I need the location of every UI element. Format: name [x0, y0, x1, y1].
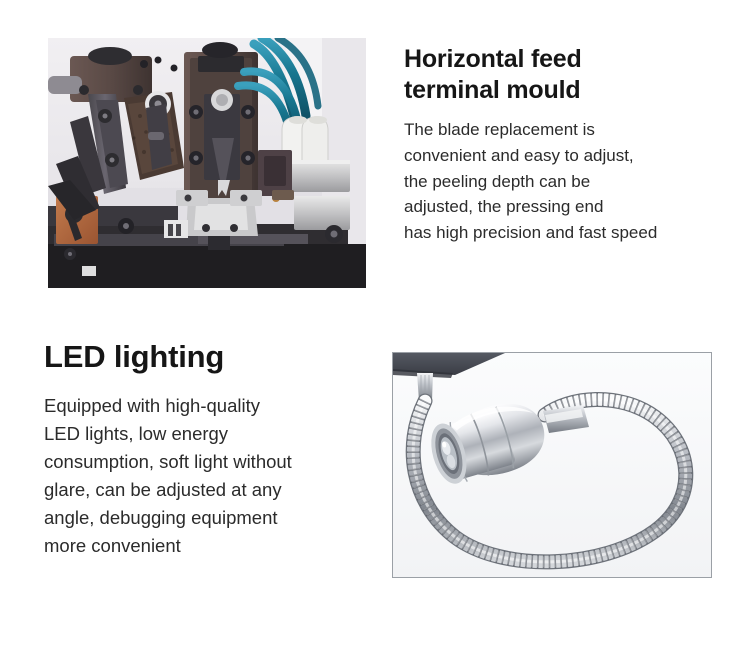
led-product-image	[392, 352, 712, 578]
led-body: Equipped with high-quality LED lights, l…	[44, 392, 384, 561]
led-heading: LED lighting	[44, 338, 384, 376]
mould-body-line-5: has high precision and fast speed	[404, 220, 744, 246]
mould-heading-line-1: Horizontal feed	[404, 44, 744, 75]
led-body-line-2: LED lights, low energy	[44, 420, 384, 448]
led-text-column: LED lighting Equipped with high-quality …	[44, 338, 384, 560]
mould-body: The blade replacement is convenient and …	[404, 117, 744, 246]
mould-product-image	[48, 38, 366, 288]
led-body-line-5: angle, debugging equipment	[44, 504, 384, 532]
led-body-line-3: consumption, soft light without	[44, 448, 384, 476]
led-body-line-6: more convenient	[44, 532, 384, 560]
mould-body-line-1: The blade replacement is	[404, 117, 744, 143]
led-body-line-1: Equipped with high-quality	[44, 392, 384, 420]
mould-body-line-2: convenient and easy to adjust,	[404, 143, 744, 169]
mould-body-line-4: adjusted, the pressing end	[404, 194, 744, 220]
mould-heading: Horizontal feed terminal mould	[404, 44, 744, 105]
mould-heading-line-2: terminal mould	[404, 75, 744, 106]
led-lamp-photo	[393, 353, 711, 577]
product-feature-page: Horizontal feed terminal mould The blade…	[0, 0, 750, 646]
led-body-line-4: glare, can be adjusted at any	[44, 476, 384, 504]
machine-mould-photo	[48, 38, 366, 288]
mould-text-column: Horizontal feed terminal mould The blade…	[404, 44, 744, 246]
mould-body-line-3: the peeling depth can be	[404, 169, 744, 195]
